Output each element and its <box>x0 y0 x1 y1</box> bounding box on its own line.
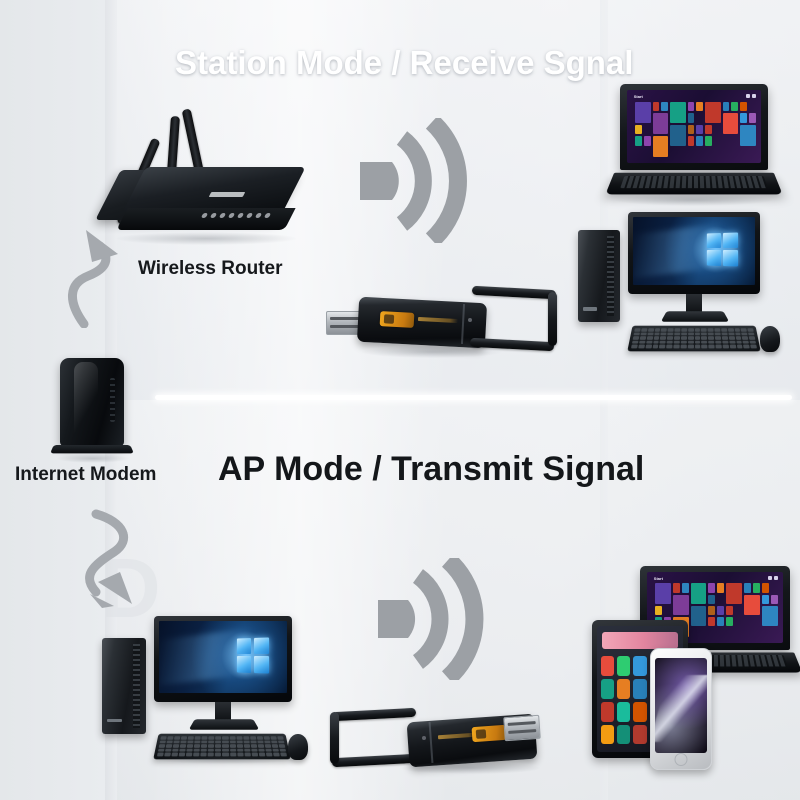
windows8-corner-tiles <box>746 94 756 98</box>
adapter-brand-label <box>380 311 415 328</box>
adapter-usb-connector <box>503 715 541 741</box>
desktop-pc-icon <box>572 206 788 352</box>
modem-base <box>50 445 134 453</box>
phone-wallpaper-swoosh <box>655 675 707 742</box>
adapter-brand-label <box>472 725 507 742</box>
router-logo-strip <box>209 192 246 197</box>
tablet-banner <box>602 632 678 648</box>
monitor-screen <box>159 621 287 693</box>
monitor-base <box>189 719 260 729</box>
internet-modem-label: Internet Modem <box>15 464 156 486</box>
modem-shadow <box>56 454 130 463</box>
router-upper-face <box>122 167 305 213</box>
wireless-router-icon <box>98 108 313 243</box>
wireless-router-label: Wireless Router <box>138 258 283 280</box>
wifi-signal-icon <box>368 558 508 680</box>
laptop-base <box>605 173 782 195</box>
monitor-bezel <box>628 212 760 294</box>
internet-modem-icon <box>52 358 138 464</box>
laptop-keyboard <box>620 176 768 188</box>
adapter-antenna-tip <box>548 292 557 346</box>
station-mode-title: Station Mode / Receive Sgnal <box>175 44 633 82</box>
modem-body <box>60 358 124 446</box>
adapter-led <box>422 736 426 740</box>
modem-gloss <box>74 362 98 442</box>
monitor-bezel <box>154 616 292 702</box>
phone-home-button <box>675 753 688 766</box>
infographic-canvas: D Station Mode / Receive Sgnal Wireless … <box>0 0 800 800</box>
adapter-shadow <box>400 762 540 774</box>
monitor-base <box>661 311 729 321</box>
wifi-signal-icon <box>348 118 493 243</box>
pc-tower <box>102 638 146 734</box>
adapter-led <box>468 318 472 322</box>
ap-mode-title: AP Mode / Transmit Signal <box>218 450 644 489</box>
desktop-shadow <box>622 344 772 354</box>
monitor-stand <box>215 702 231 720</box>
section-divider <box>155 395 792 400</box>
laptop-screen: Start <box>627 90 761 163</box>
adapter-body <box>357 297 487 349</box>
laptop-icon: Start <box>606 84 778 206</box>
phone-screen <box>655 658 707 753</box>
phone-body <box>650 648 712 770</box>
router-front-face <box>116 208 295 230</box>
windows8-corner-tiles <box>768 576 778 580</box>
desktop-pc-icon <box>96 614 312 760</box>
adapter-antenna-upper <box>332 708 416 721</box>
usb-wifi-adapter-icon <box>330 702 530 780</box>
windows8-start-label: Start <box>634 94 643 99</box>
windows10-logo <box>237 638 269 674</box>
usb-wifi-adapter-icon <box>322 282 512 364</box>
windows10-logo <box>707 233 738 267</box>
curved-arrow-down-icon <box>62 508 197 620</box>
router-led-row <box>201 213 278 218</box>
windows8-start-label: Start <box>654 576 663 581</box>
adapter-shadow <box>362 346 502 358</box>
monitor-screen <box>633 217 755 285</box>
smartphone-icon <box>650 648 712 770</box>
pc-tower <box>578 230 620 322</box>
laptop-lid: Start <box>620 84 768 170</box>
desktop-shadow <box>150 754 300 764</box>
modem-vents <box>110 378 115 422</box>
laptop-shadow <box>614 194 774 206</box>
windows8-tile-grid <box>635 102 756 158</box>
adapter-antenna-tip <box>330 712 339 764</box>
monitor-stand <box>686 294 702 312</box>
